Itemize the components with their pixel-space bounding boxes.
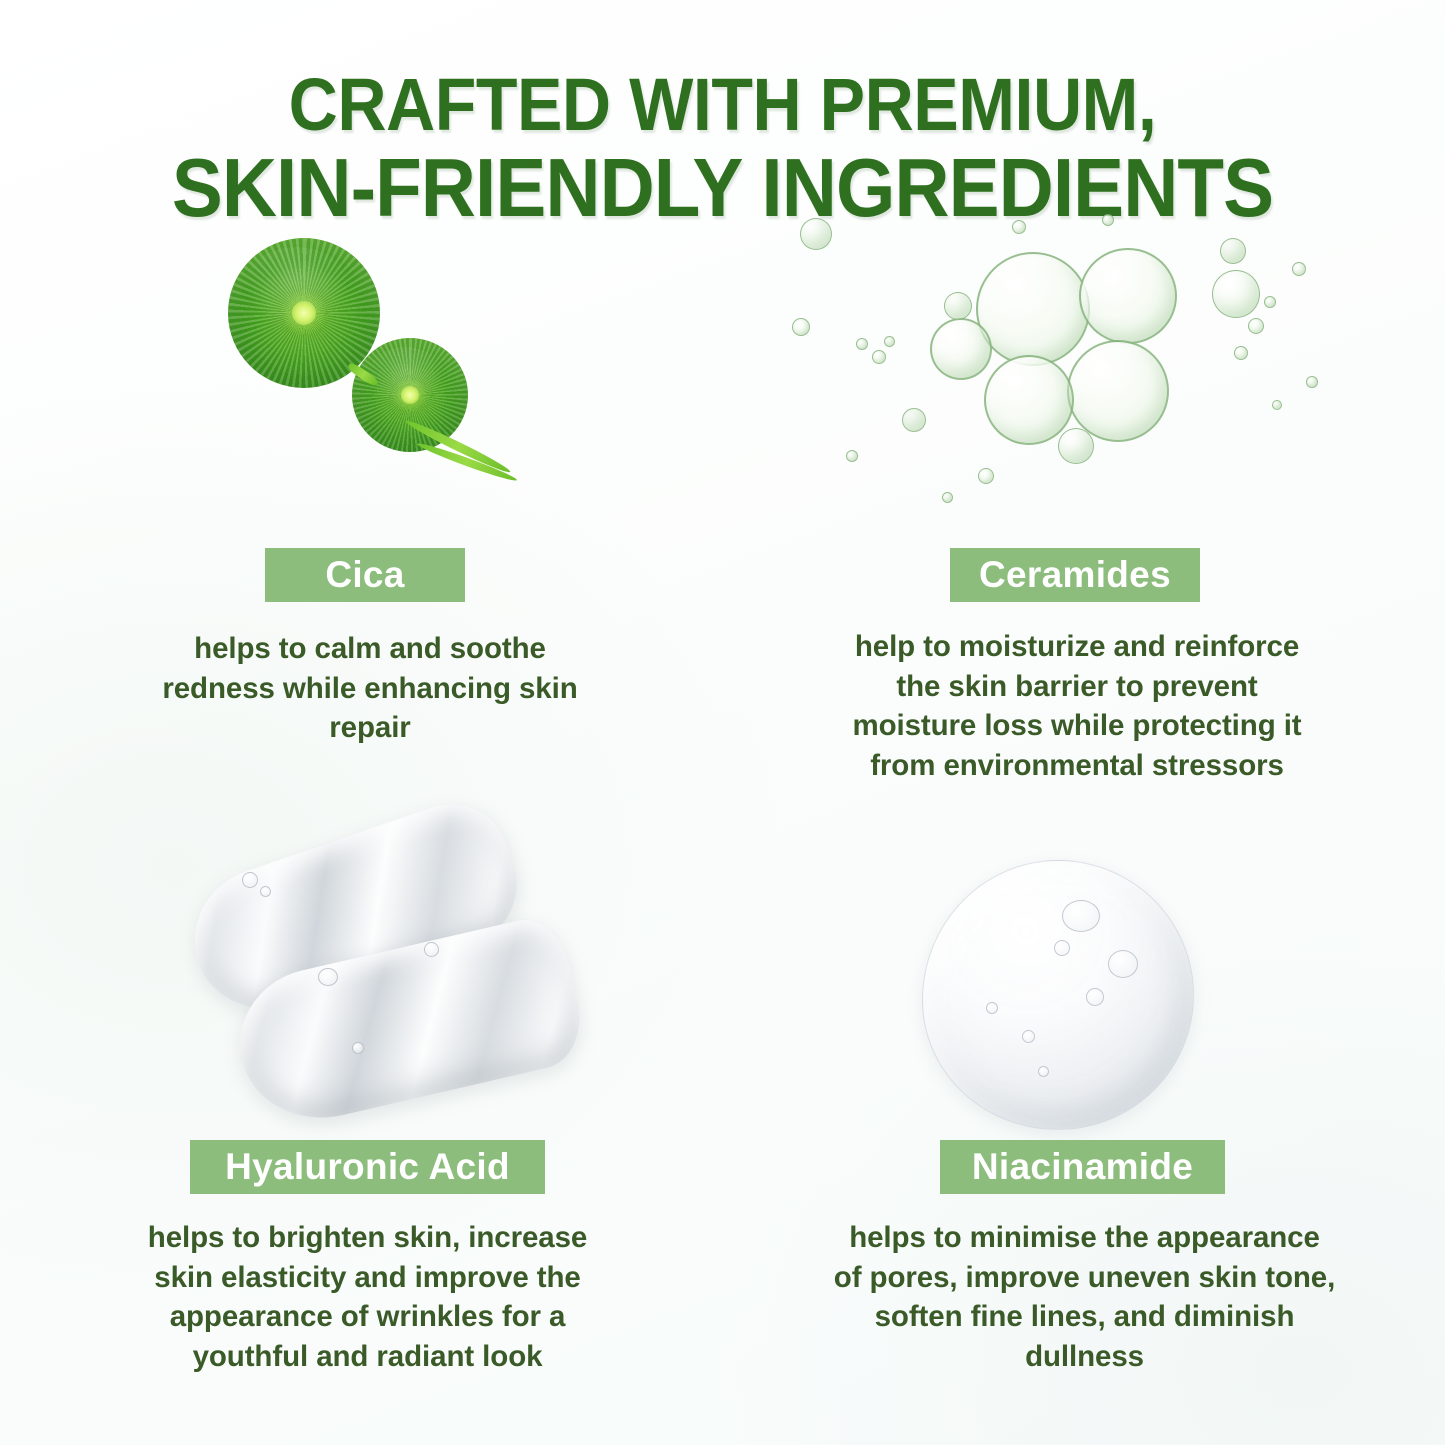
- droplet-bubble-small-c: [1022, 1030, 1035, 1043]
- bubble-satellite-bottom-a: [846, 450, 858, 462]
- bubble-satellite-right-large: [1212, 270, 1260, 318]
- bubble-satellite-top-a: [1012, 220, 1026, 234]
- bubble-small-left-edge: [944, 292, 972, 320]
- bubble-large-top-right: [1079, 248, 1177, 344]
- bubble-satellite-right-upper: [1220, 238, 1246, 264]
- serum-droplet-image: [902, 850, 1232, 1140]
- title-line-1: CRAFTED WITH PREMIUM,: [58, 66, 1387, 144]
- ingredient-card-niacinamide: Niacinamide helps to minimise the appear…: [722, 800, 1445, 1400]
- droplet-bubble-large: [1062, 900, 1100, 932]
- ingredient-description-ceramides: help to moisturize and reinforce the ski…: [832, 627, 1322, 785]
- gel-bubble-e: [352, 1042, 364, 1054]
- ingredient-name-ceramides: Ceramides: [950, 548, 1200, 602]
- bubble-satellite-left-b: [856, 338, 868, 350]
- droplet-bubble-small-e: [1038, 1066, 1049, 1077]
- bubble-satellite-bottom-b: [978, 468, 994, 484]
- droplet-bubble-small-d: [986, 1002, 998, 1014]
- bubble-satellite-right-c: [1234, 346, 1248, 360]
- gel-bubble-b: [260, 886, 271, 897]
- ingredient-card-ceramides: Ceramides help to moisturize and reinfor…: [722, 200, 1445, 775]
- bubble-satellite-top-b: [1102, 214, 1114, 226]
- leaf-core-large: [292, 301, 316, 325]
- ingredient-name-hyaluronic-acid: Hyaluronic Acid: [190, 1140, 545, 1194]
- ingredient-name-niacinamide: Niacinamide: [940, 1140, 1225, 1194]
- bubble-large-left: [976, 252, 1090, 366]
- bubble-small-cluster-bottom: [1058, 428, 1094, 464]
- ingredient-description-hyaluronic-acid: helps to brighten skin, increase skin el…: [115, 1218, 620, 1376]
- droplet-bubble-small-b: [1086, 988, 1104, 1006]
- bubble-satellite-right-f: [1272, 400, 1282, 410]
- ingredient-card-hyaluronic-acid: Hyaluronic Acid helps to brighten skin, …: [0, 800, 722, 1400]
- bubble-satellite-top-left: [800, 218, 832, 250]
- leaf-small-icon: [352, 338, 468, 452]
- bubble-satellite-right-e: [1306, 376, 1318, 388]
- bubble-satellite-bottom-left: [902, 408, 926, 432]
- bubble-satellite-right-d: [1292, 262, 1306, 276]
- centella-leaves-image: [200, 230, 560, 550]
- gel-bubble-a: [242, 872, 258, 888]
- gel-bubble-d: [318, 968, 338, 986]
- ingredient-description-cica: helps to calm and soothe redness while e…: [150, 629, 590, 748]
- bubble-satellite-bottom-c: [942, 492, 953, 503]
- bubble-satellite-right-a: [1248, 318, 1264, 334]
- ingredients-infographic: CRAFTED WITH PREMIUM, SKIN-FRIENDLY INGR…: [0, 0, 1445, 1445]
- ingredient-name-cica: Cica: [265, 548, 465, 602]
- droplet-bubble-medium: [1108, 950, 1138, 978]
- bubble-cluster-image: [772, 200, 1392, 510]
- bubble-medium-bottom-left: [984, 355, 1074, 445]
- bubble-medium-left: [930, 318, 992, 380]
- droplet-bubble-small-a: [1054, 940, 1070, 956]
- bubble-satellite-left-a: [792, 318, 810, 336]
- clear-gel-swatch-image: [180, 820, 580, 1120]
- gel-bubble-c: [424, 942, 439, 957]
- droplet-body: [922, 860, 1194, 1130]
- bubble-large-bottom-right: [1067, 340, 1169, 442]
- bubble-satellite-right-b: [1264, 296, 1276, 308]
- ingredient-description-niacinamide: helps to minimise the appearance of pore…: [832, 1218, 1337, 1376]
- bubble-satellite-left-c: [872, 350, 886, 364]
- ingredient-card-cica: Cica helps to calm and soothe redness wh…: [0, 215, 722, 775]
- leaf-core-small: [401, 386, 420, 404]
- bubble-satellite-left-d: [884, 336, 895, 347]
